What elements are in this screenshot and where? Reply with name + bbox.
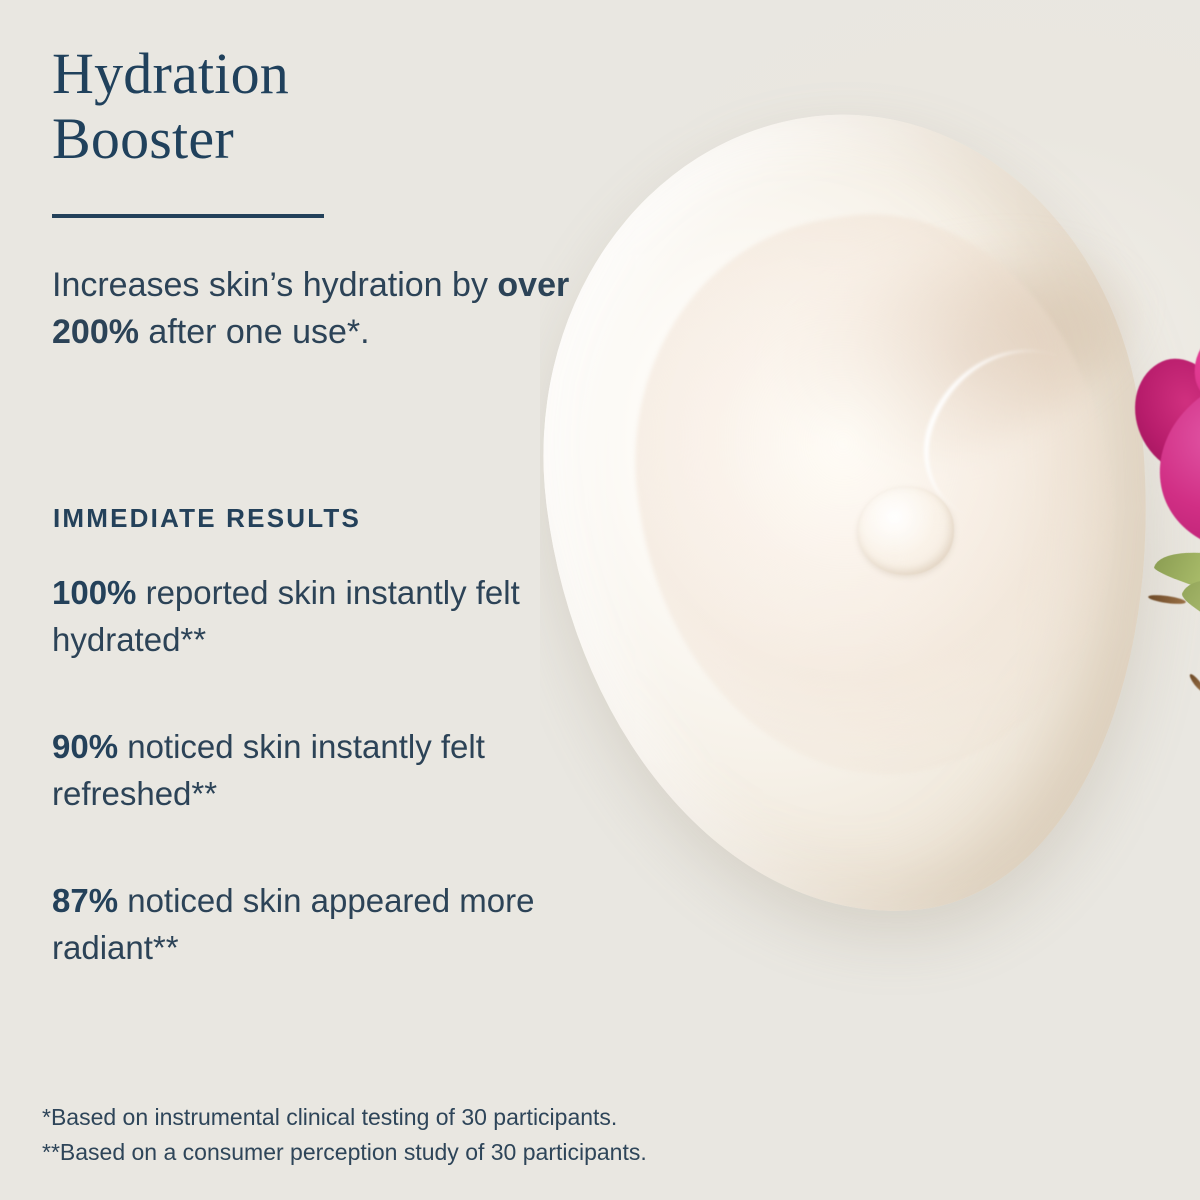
subtitle-suffix: after one use*. bbox=[139, 313, 370, 351]
serum-droplet bbox=[858, 487, 954, 575]
result-text-3: noticed skin appeared more radiant** bbox=[52, 882, 534, 966]
footnote-2: **Based on a consumer perception study o… bbox=[42, 1135, 832, 1170]
title-line-1: Hydration bbox=[52, 42, 472, 107]
product-benefit-graphic: Hydration Booster Increases skin’s hydra… bbox=[0, 0, 1200, 1200]
title-divider bbox=[52, 214, 324, 218]
title-line-2: Booster bbox=[52, 107, 472, 172]
result-stat-3: 87% bbox=[52, 882, 118, 919]
text-content: Hydration Booster Increases skin’s hydra… bbox=[0, 0, 640, 1200]
result-stat-2: 90% bbox=[52, 728, 118, 765]
results-heading: IMMEDIATE RESULTS bbox=[53, 503, 361, 534]
result-item-3: 87% noticed skin appeared more radiant** bbox=[52, 878, 612, 972]
result-stat-1: 100% bbox=[52, 574, 136, 611]
subtitle-prefix: by bbox=[452, 266, 497, 304]
result-item-1: 100% reported skin instantly felt hydrat… bbox=[52, 570, 612, 664]
result-item-2: 90% noticed skin instantly felt refreshe… bbox=[52, 724, 612, 818]
footnote-1: *Based on instrumental clinical testing … bbox=[42, 1100, 832, 1135]
page-title: Hydration Booster bbox=[52, 42, 472, 172]
subtitle-lead: Increases skin’s hydration bbox=[52, 266, 443, 304]
footnotes: *Based on instrumental clinical testing … bbox=[42, 1100, 832, 1170]
subtitle: Increases skin’s hydration by over 200% … bbox=[52, 262, 612, 356]
